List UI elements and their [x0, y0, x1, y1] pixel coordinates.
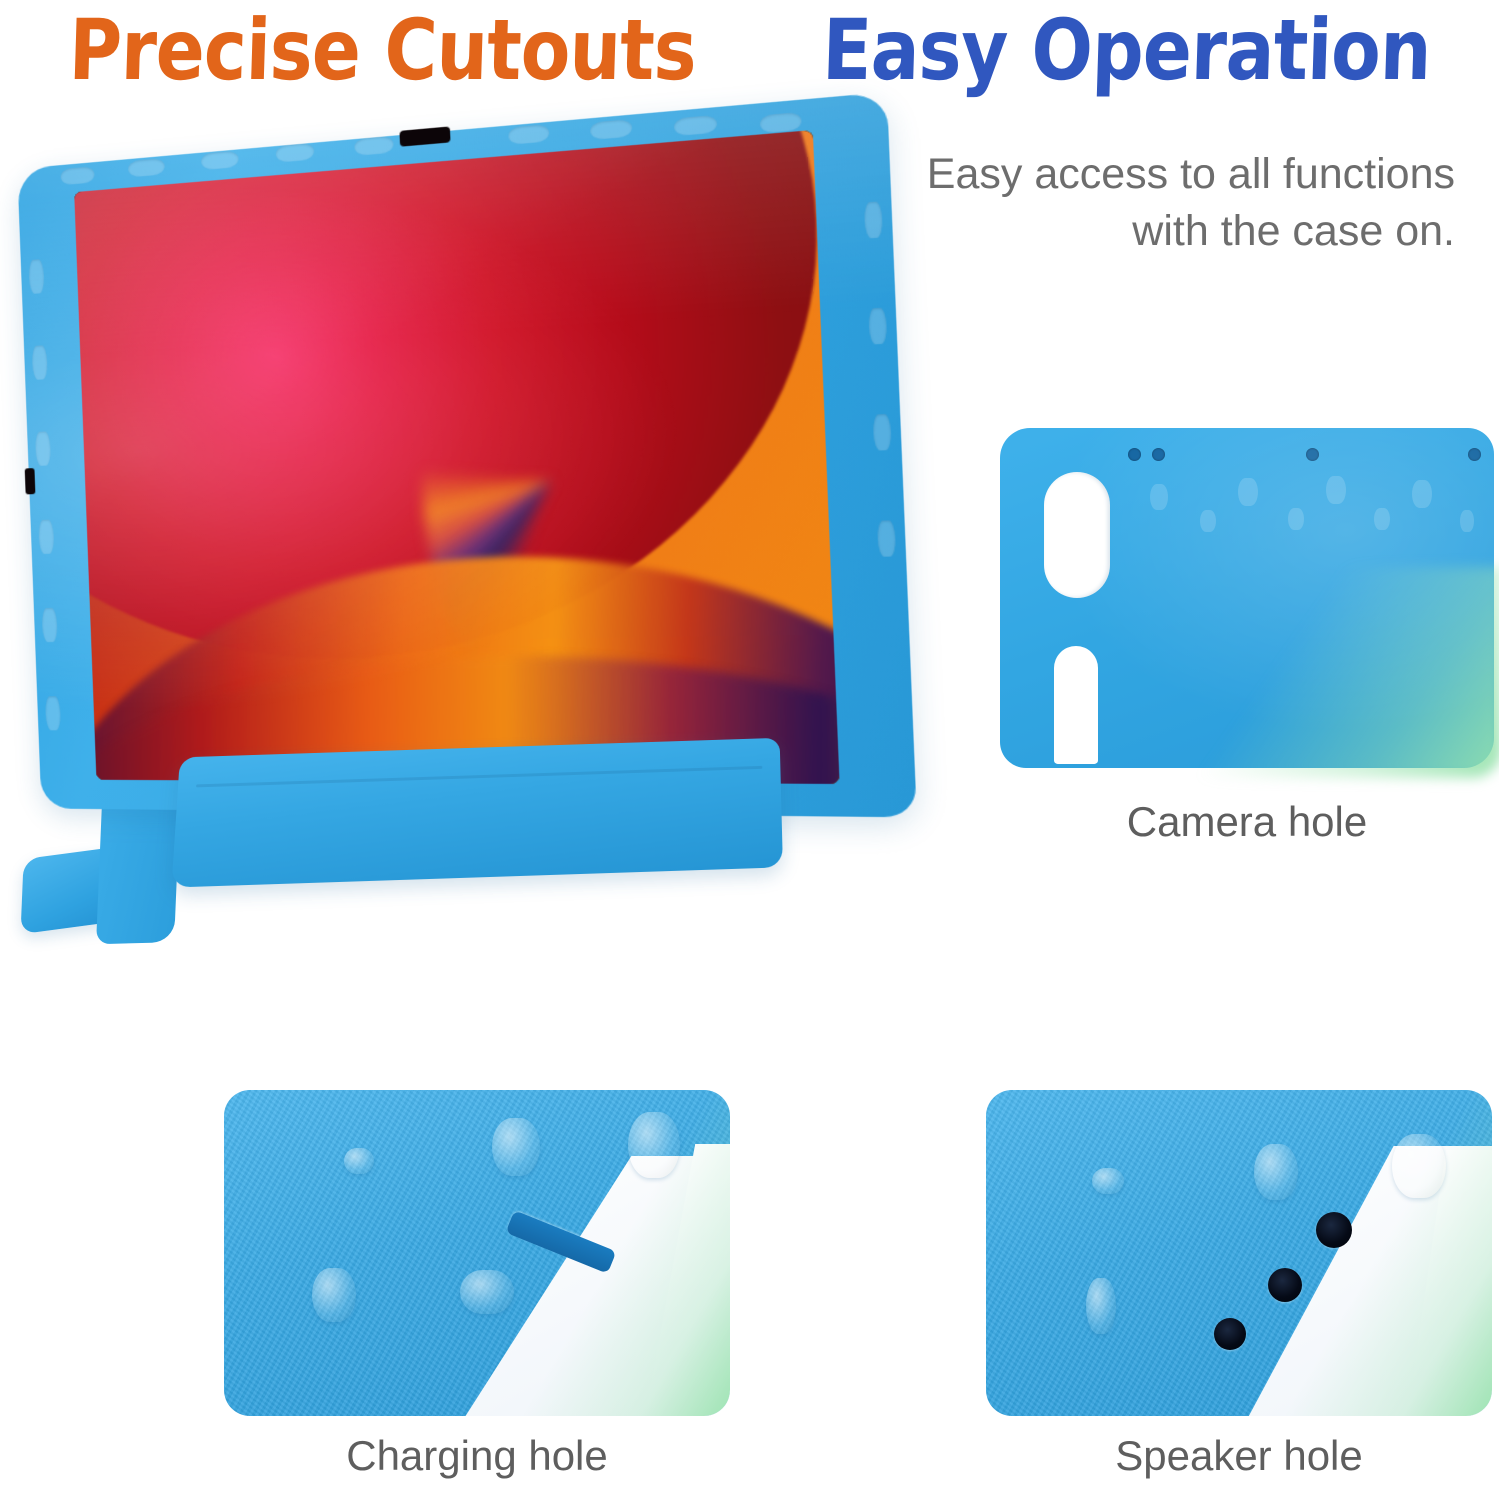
headline-part-1: Precise Cutouts [68, 8, 697, 92]
speaker-hole-cutout [1214, 1318, 1246, 1350]
foam-case-shell [17, 92, 917, 817]
hero-product-image [0, 150, 900, 980]
screen-wallpaper [74, 130, 839, 784]
front-camera-icon [399, 126, 450, 146]
speaker-hole-cutout [1316, 1212, 1352, 1248]
tablet-assembly [6, 146, 874, 955]
secondary-cutout [1054, 646, 1098, 764]
kickstand-handle [171, 738, 782, 888]
page-headline: Precise Cutouts Easy Operation [0, 0, 1499, 100]
mint-accent-glow [1156, 567, 1499, 778]
camera-cutout [1044, 472, 1110, 598]
case-back-shell [1000, 428, 1494, 768]
panel-speaker-hole [986, 1090, 1492, 1416]
panel-charging-hole [224, 1090, 730, 1416]
caption-speaker-hole: Speaker hole [986, 1432, 1492, 1480]
caption-camera-hole: Camera hole [1000, 798, 1494, 846]
tablet-screen [74, 130, 839, 784]
headline-part-2: Easy Operation [822, 8, 1433, 92]
speaker-hole-cutout [1268, 1268, 1302, 1302]
panel-camera-hole [1000, 428, 1494, 768]
caption-charging-hole: Charging hole [224, 1432, 730, 1480]
side-button-icon [25, 468, 36, 494]
